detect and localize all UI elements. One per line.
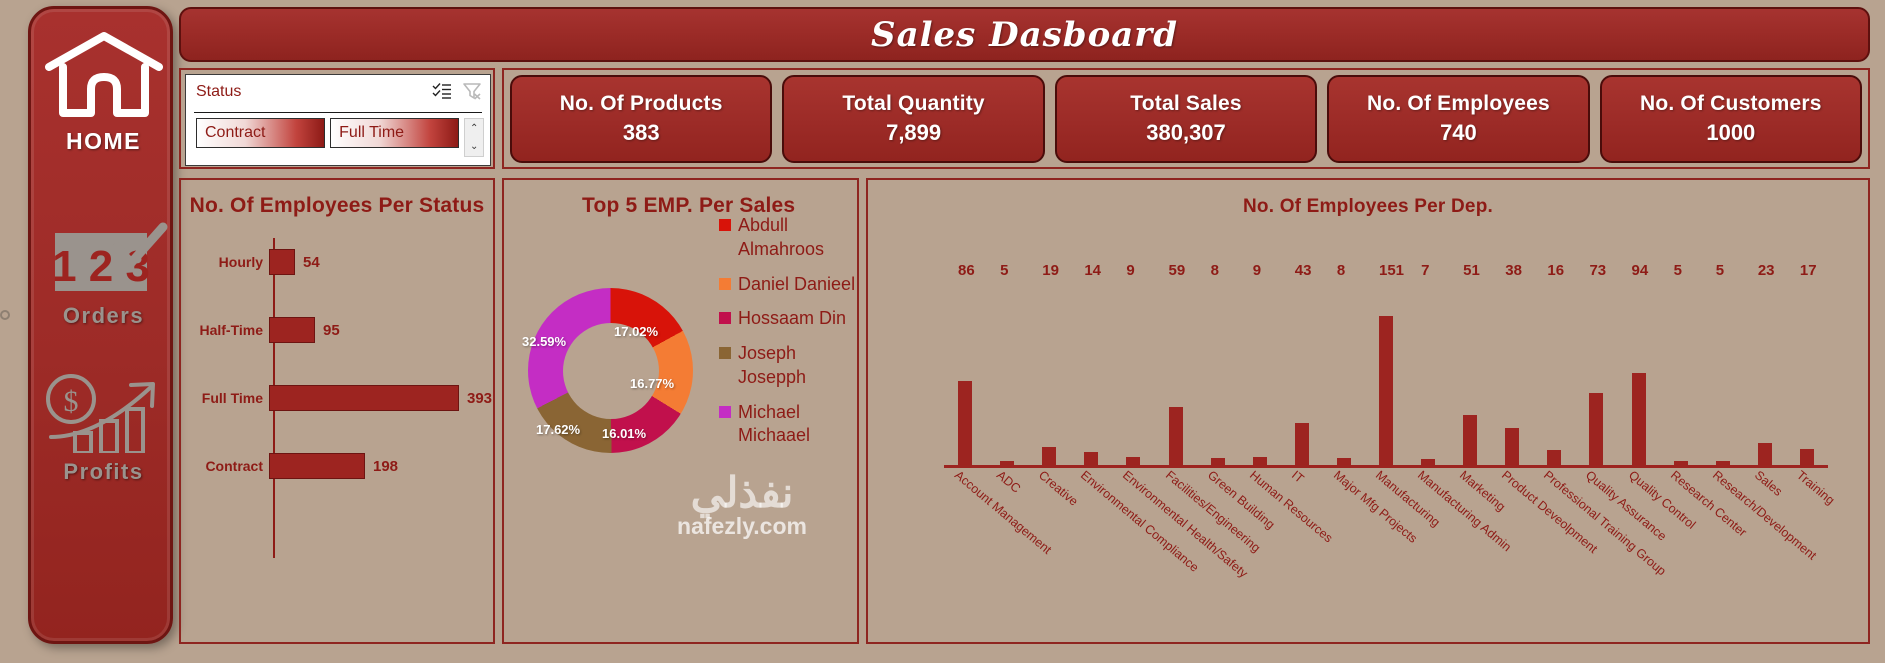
slicer-option-label: Contract (205, 124, 265, 142)
sidebar-item-label: HOME (31, 128, 173, 155)
donut-slice-label: 32.59% (522, 334, 566, 349)
chevron-down-icon[interactable]: ⌄ (470, 141, 478, 152)
bar[interactable] (269, 385, 459, 411)
legend-label: Michael Michaael (738, 401, 859, 449)
bar-value-label: 7 (1421, 262, 1429, 279)
bar-value-label: 95 (323, 322, 340, 339)
multi-select-icon[interactable] (432, 81, 452, 106)
donut-slice-label: 17.02% (614, 324, 658, 339)
kpi-card-products[interactable]: No. Of Products 383 (510, 75, 772, 163)
chart-panel-employees-per-dep: No. Of Employees Per Dep. 86519149598943… (866, 178, 1870, 644)
kpi-card-employees[interactable]: No. Of Employees 740 (1327, 75, 1589, 163)
category-axis-labels: Account ManagementADCCreativeEnvironment… (944, 468, 1828, 638)
slicer-option-label: Full Time (339, 124, 404, 142)
bar-column[interactable]: 16 (1533, 281, 1575, 466)
bar-category-label: Half-Time (181, 322, 269, 338)
kpi-card-customers[interactable]: No. Of Customers 1000 (1600, 75, 1862, 163)
sidebar-item-profits[interactable]: $ Profits (31, 371, 173, 485)
legend-label: Hossaam Din (738, 307, 846, 331)
bar[interactable]: 14 (1084, 452, 1098, 466)
status-slicer-panel: Status (179, 68, 495, 169)
bar-column[interactable]: 14 (1070, 281, 1112, 466)
bar-column[interactable]: 9 (1239, 281, 1281, 466)
donut-slice-label: 17.62% (536, 422, 580, 437)
vertical-bar-chart: 86519149598943815175138167394552317 Acco… (868, 224, 1872, 644)
bar-column[interactable]: 19 (1028, 281, 1070, 466)
bar-value-label: 59 (1169, 262, 1186, 279)
bar[interactable]: 94 (1632, 373, 1646, 466)
status-slicer[interactable]: Status (185, 74, 491, 166)
bar-value-label: 9 (1253, 262, 1261, 279)
page-title: Sales Dasboard (871, 15, 1178, 55)
bar-column[interactable]: 86 (944, 281, 986, 466)
bar-column[interactable]: 5 (986, 281, 1028, 466)
sidebar-item-orders[interactable]: 1 2 3 Orders (31, 221, 173, 329)
bar[interactable]: 73 (1589, 393, 1603, 466)
slicer-options: Contract Full Time ⌃ ⌄ (186, 113, 490, 157)
sidebar-item-label: Profits (31, 459, 173, 485)
bar-column[interactable]: 5 (1660, 281, 1702, 466)
bar-value-label: 86 (958, 262, 975, 279)
bar-value-label: 198 (373, 458, 398, 475)
bar-value-label: 5 (1716, 262, 1724, 279)
slicer-actions (432, 81, 482, 106)
kpi-card-quantity[interactable]: Total Quantity 7,899 (782, 75, 1044, 163)
bar-category-label: Full Time (181, 390, 269, 406)
legend-item[interactable]: Daniel Danieel (719, 273, 859, 297)
bar-row[interactable]: Hourly54 (181, 248, 497, 276)
clear-filter-icon[interactable] (462, 81, 482, 106)
bar[interactable] (269, 317, 315, 343)
legend-label: Abdull Almahroos (738, 214, 859, 262)
bar-value-label: 151 (1379, 262, 1404, 279)
bar[interactable]: 86 (958, 381, 972, 466)
bar-row[interactable]: Half-Time95 (181, 316, 497, 344)
bar-value-label: 8 (1337, 262, 1345, 279)
chevron-up-icon[interactable]: ⌃ (470, 123, 478, 134)
bar-value-label: 38 (1505, 262, 1522, 279)
bar-column[interactable]: 151 (1365, 281, 1407, 466)
kpi-card-row: No. Of Products 383 Total Quantity 7,899… (502, 68, 1870, 169)
donut-slice-label: 16.01% (602, 426, 646, 441)
dashboard-canvas: HOME 1 2 3 Orders $ (0, 0, 1885, 663)
kpi-card-sales[interactable]: Total Sales 380,307 (1055, 75, 1317, 163)
bar-row[interactable]: Contract198 (181, 452, 497, 480)
legend-item[interactable]: Abdull Almahroos (719, 214, 859, 262)
bar-column[interactable]: 94 (1618, 281, 1660, 466)
category-label: IT (1289, 468, 1307, 486)
bar-value-label: 14 (1084, 262, 1101, 279)
bar-value-label: 94 (1632, 262, 1649, 279)
bar-value-label: 5 (1000, 262, 1008, 279)
bar-column[interactable]: 8 (1197, 281, 1239, 466)
category-label: ADC (994, 468, 1023, 496)
chart-title: No. Of Employees Per Status (181, 194, 493, 218)
kpi-label: No. Of Employees (1367, 92, 1550, 116)
legend-item[interactable]: Hossaam Din (719, 307, 859, 331)
bar-value-label: 8 (1211, 262, 1219, 279)
bar-row[interactable]: Full Time393 (181, 384, 497, 412)
kpi-value: 1000 (1706, 120, 1755, 146)
bar-column[interactable]: 73 (1575, 281, 1617, 466)
bar[interactable]: 17 (1800, 449, 1814, 466)
chart-panel-employees-per-status: No. Of Employees Per Status Hourly54Half… (179, 178, 495, 644)
bar-column[interactable]: 9 (1112, 281, 1154, 466)
sidebar-item-home[interactable]: HOME (31, 31, 173, 155)
slicer-title: Status (196, 83, 241, 101)
bar-value-label: 43 (1295, 262, 1312, 279)
sidebar-item-label: Orders (31, 303, 173, 329)
bar-value-label: 51 (1463, 262, 1480, 279)
horizontal-bar-chart: Hourly54Half-Time95Full Time393Contract1… (181, 228, 497, 638)
sidebar: HOME 1 2 3 Orders $ (28, 6, 173, 644)
bar-column[interactable]: 43 (1281, 281, 1323, 466)
donut-chart: 17.02%16.77%16.01%17.62%32.59% (518, 236, 718, 516)
legend-label: Daniel Danieel (738, 273, 855, 297)
svg-text:$: $ (63, 385, 78, 418)
chart-legend: Abdull AlmahroosDaniel DanieelHossaam Di… (719, 214, 859, 459)
legend-swatch (719, 347, 731, 359)
slicer-option-contract[interactable]: Contract (196, 118, 325, 148)
category-label: Training (1794, 468, 1837, 507)
kpi-value: 383 (623, 120, 660, 146)
bar-value-label: 54 (303, 254, 320, 271)
kpi-label: No. Of Products (560, 92, 723, 116)
bar[interactable]: 16 (1547, 450, 1561, 466)
bar-column[interactable]: 5 (1702, 281, 1744, 466)
bar-value-label: 16 (1547, 262, 1564, 279)
legend-swatch (719, 406, 731, 418)
bar-value-label: 73 (1589, 262, 1606, 279)
bar-value-label: 19 (1042, 262, 1059, 279)
bar[interactable] (269, 453, 365, 479)
kpi-label: Total Quantity (842, 92, 984, 116)
bar[interactable]: 43 (1295, 423, 1309, 466)
slicer-scroll-spinner[interactable]: ⌃ ⌄ (464, 118, 484, 157)
kpi-value: 380,307 (1146, 120, 1226, 146)
chart-panel-top5-employees-sales: Top 5 EMP. Per Sales 17.02%16.77%16.01%1… (502, 178, 859, 644)
svg-text:1 2 3: 1 2 3 (52, 242, 150, 291)
bar-column[interactable]: 17 (1786, 281, 1828, 466)
bar-category-label: Hourly (181, 254, 269, 270)
bar[interactable]: 19 (1042, 447, 1056, 466)
bar-category-label: Contract (181, 458, 269, 474)
home-icon (43, 108, 165, 125)
profit-growth-icon: $ (39, 440, 169, 457)
legend-item[interactable]: Michael Michaael (719, 401, 859, 449)
dashboard-title-bar: Sales Dasboard (179, 7, 1870, 62)
slicer-option-fulltime[interactable]: Full Time (330, 118, 459, 148)
bar-column[interactable]: 23 (1744, 281, 1786, 466)
bar[interactable] (269, 249, 295, 275)
bar-column[interactable]: 51 (1449, 281, 1491, 466)
kpi-value: 740 (1440, 120, 1477, 146)
bar[interactable]: 51 (1463, 415, 1477, 466)
bar[interactable]: 38 (1505, 428, 1519, 466)
bar[interactable]: 59 (1169, 407, 1183, 466)
kpi-label: Total Sales (1130, 92, 1242, 116)
bar-columns: 86519149598943815175138167394552317 (944, 281, 1828, 466)
donut-slice-label: 16.77% (630, 376, 674, 391)
kpi-value: 7,899 (886, 120, 941, 146)
bar[interactable]: 23 (1758, 443, 1772, 466)
bar-column[interactable]: 7 (1407, 281, 1449, 466)
page-edge-marker (0, 310, 10, 320)
bar-value-label: 9 (1126, 262, 1134, 279)
category-label: Sales (1752, 468, 1785, 499)
legend-label: Joseph Josepph (738, 342, 859, 390)
legend-swatch (719, 219, 731, 231)
legend-item[interactable]: Joseph Josepph (719, 342, 859, 390)
bar-column[interactable]: 38 (1491, 281, 1533, 466)
bar-column[interactable]: 59 (1154, 281, 1196, 466)
bar[interactable]: 151 (1379, 316, 1393, 466)
bar-value-label: 17 (1800, 262, 1817, 279)
chart-title: No. Of Employees Per Dep. (868, 196, 1868, 218)
slicer-header: Status (194, 79, 482, 113)
category-label: Creative (1036, 468, 1081, 509)
legend-swatch (719, 312, 731, 324)
category-label: Research Center (1668, 468, 1749, 539)
kpi-label: No. Of Customers (1640, 92, 1822, 116)
bar-value-label: 23 (1758, 262, 1775, 279)
legend-swatch (719, 278, 731, 290)
bar-column[interactable]: 8 (1323, 281, 1365, 466)
bar-value-label: 393 (467, 390, 492, 407)
orders-123-check-icon: 1 2 3 (39, 284, 169, 301)
bar-value-label: 5 (1674, 262, 1682, 279)
